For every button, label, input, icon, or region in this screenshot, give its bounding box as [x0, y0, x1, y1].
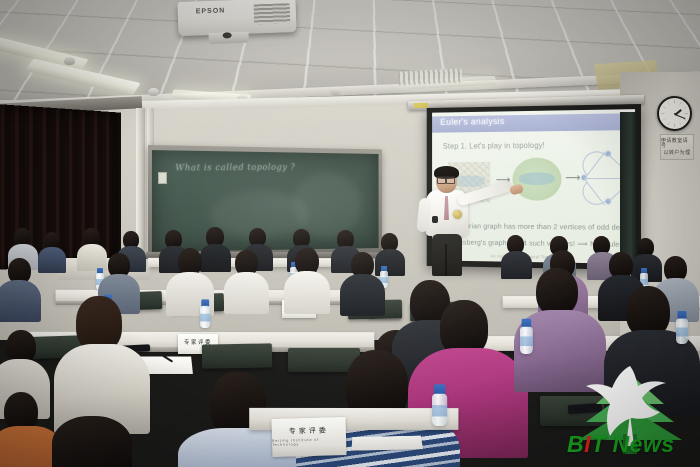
bottle-label [520, 336, 533, 346]
graph-edge-curved [583, 178, 611, 205]
paper-sheet [352, 436, 424, 451]
projector-vent [254, 3, 291, 24]
speaker-presenter [414, 168, 500, 274]
watermark-text-b: B [567, 431, 584, 457]
bottle-body [200, 306, 210, 328]
bottle-label [200, 314, 210, 322]
topology-highlight-ellipse [512, 158, 561, 201]
ceiling-projector: EPSON [177, 0, 296, 36]
light-switch-plate [158, 172, 167, 184]
torso [77, 244, 107, 271]
watermark-text-news: T News [591, 431, 675, 457]
blackboard-chalk-text: What is called topology ? [175, 163, 295, 174]
water-bottle [432, 384, 447, 426]
name-card-text: 专家评委 [289, 427, 329, 435]
torso [0, 280, 41, 322]
watermark-text: BIT News [567, 431, 675, 458]
bit-news-watermark: BIT News [560, 360, 700, 467]
bottle-body [676, 319, 688, 345]
wall-sign-line-2: 以转户为理 [663, 151, 690, 156]
name-card-subtext: Beijing Institute of Technology [272, 437, 346, 447]
sprinkler-head [64, 57, 75, 65]
bottle-label [432, 405, 447, 416]
bottle-body [520, 327, 533, 354]
projector-brand-label: EPSON [196, 7, 226, 15]
speaker-trousers [432, 234, 462, 276]
lecture-hall-photograph: EPSON What is called topology ? Euler's … [0, 0, 700, 467]
wall-clock [657, 96, 692, 131]
slide-step-text: Step 1. Let's play in topology! [443, 141, 545, 151]
speaker-glasses [437, 176, 455, 182]
doorway [620, 112, 638, 262]
water-bottle [200, 299, 210, 328]
arrow-right-icon: ⟶ [565, 173, 580, 184]
sprinkler-head [330, 87, 341, 95]
torso [501, 251, 532, 279]
bottle-label [676, 328, 688, 337]
speaker-badge [453, 210, 462, 219]
clock-pivot [674, 113, 676, 115]
torso [38, 247, 66, 273]
torso [284, 271, 330, 314]
sprinkler-head [148, 88, 159, 96]
bottle-body [432, 394, 447, 426]
head [536, 268, 578, 316]
wall-sign-line-1: 申请教室请号 [661, 139, 693, 149]
speaker-microphone [432, 216, 438, 223]
head [52, 416, 132, 467]
graph-edge-curved [583, 151, 611, 179]
slide-title: Euler's analysis [440, 116, 504, 128]
torso [340, 274, 385, 316]
torso [200, 244, 231, 272]
watermark-text-i: I [584, 431, 591, 457]
wall-notice-sign: 申请教室请号 以转户为理 [660, 134, 694, 160]
torso [224, 272, 269, 314]
desk-name-card-front: 专家评委 Beijing Institute of Technology [272, 417, 347, 457]
water-bottle [520, 319, 533, 354]
chair-back [202, 343, 272, 368]
water-bottle [676, 311, 688, 344]
